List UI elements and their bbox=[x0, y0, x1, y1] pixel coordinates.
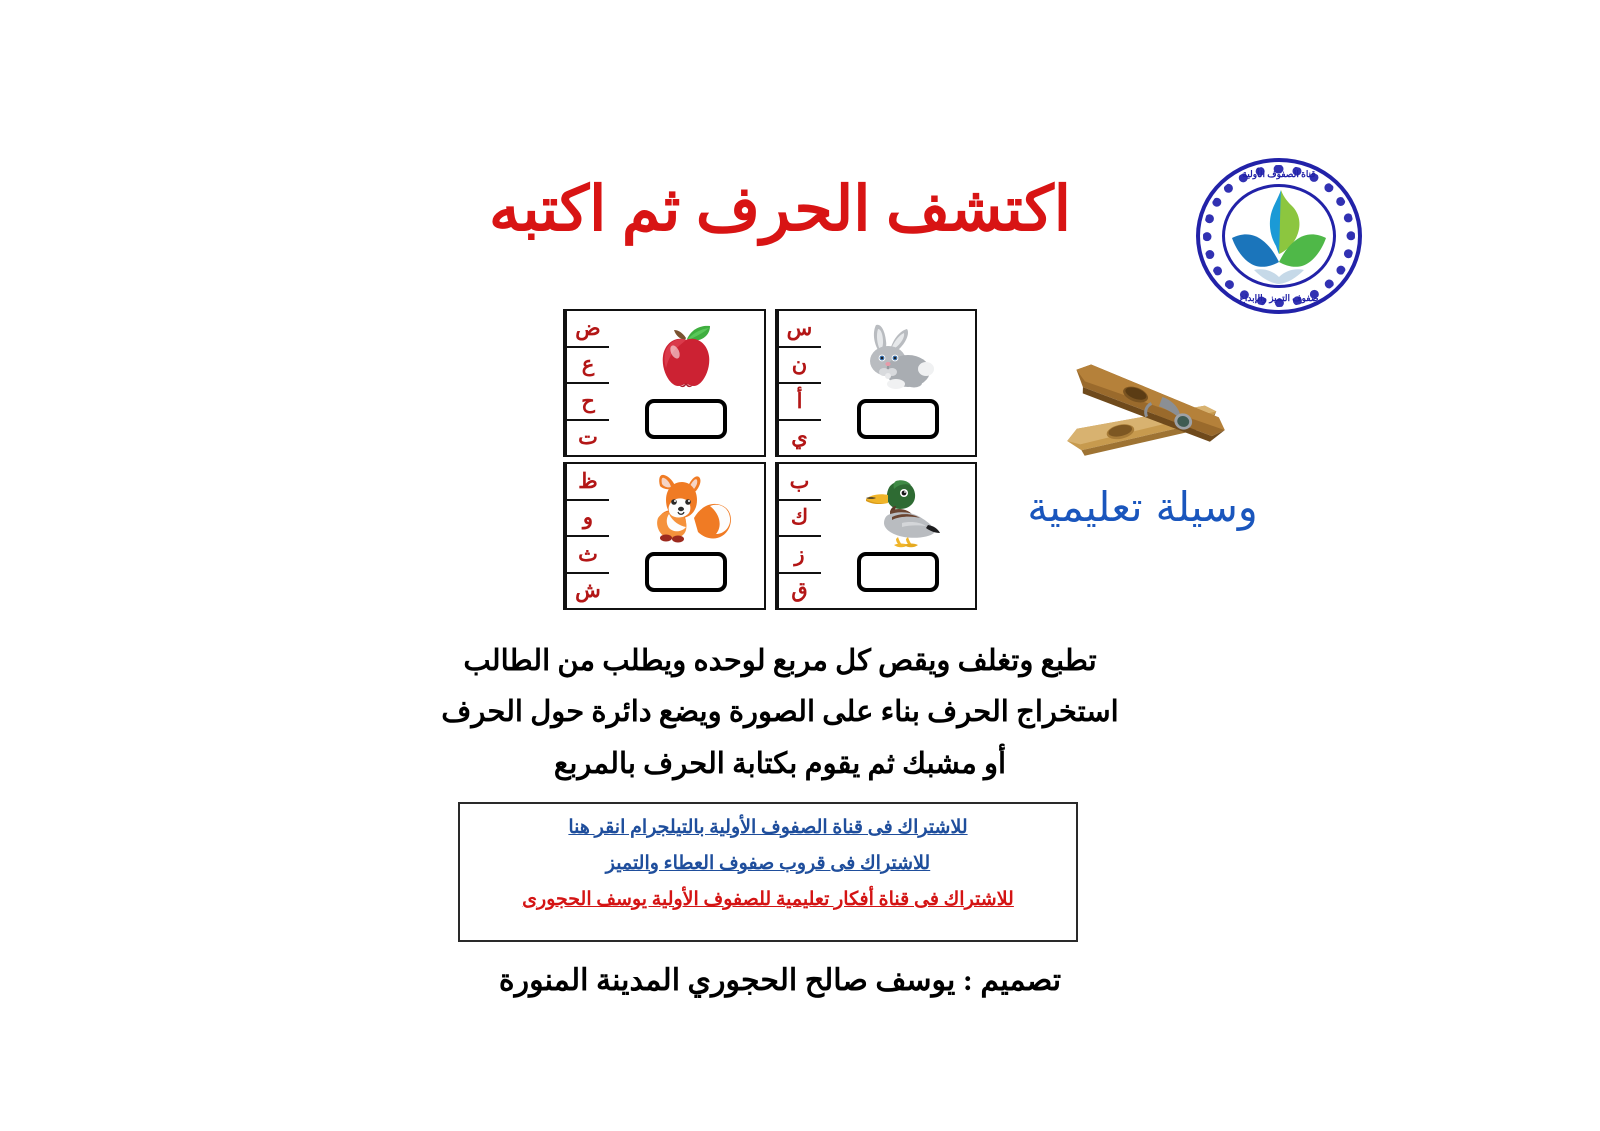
ideas-channel-link[interactable]: للاشتراك فى قناة أفكار تعليمية للصفوف ال… bbox=[460, 888, 1076, 911]
instruction-line: تطبع وتغلف ويقص كل مربع لوحده ويطلب من ا… bbox=[330, 636, 1230, 687]
letter-options-column: ظ و ث ش bbox=[565, 464, 609, 608]
page-title: اكتشف الحرف ثم اكتبه bbox=[380, 178, 1180, 243]
letter-options-column: ض ع ح ت bbox=[565, 311, 609, 455]
letter-option[interactable]: ت bbox=[567, 421, 609, 456]
telegram-channel-link[interactable]: للاشتراك فى قناة الصفوف الأولية بالتيلجر… bbox=[460, 816, 1076, 839]
letter-option[interactable]: س bbox=[779, 311, 821, 348]
letter-cards-grid: ض ع ح ت س ن أ bbox=[563, 309, 977, 610]
card-picture-area bbox=[821, 464, 976, 608]
letter-option[interactable]: ظ bbox=[567, 464, 609, 501]
letter-card[interactable]: س ن أ ي bbox=[775, 309, 978, 457]
seal-bottom-text: صفوف التميز والإبداع bbox=[1196, 293, 1362, 304]
groups-link[interactable]: للاشتراك فى قروب صفوف العطاء والتميز bbox=[460, 852, 1076, 875]
letter-card[interactable]: ب ك ز ق bbox=[775, 462, 978, 610]
card-picture-area bbox=[609, 311, 764, 455]
letter-options-column: س ن أ ي bbox=[777, 311, 821, 455]
answer-box[interactable] bbox=[857, 399, 939, 439]
letter-option[interactable]: ض bbox=[567, 311, 609, 348]
letter-option[interactable]: و bbox=[567, 501, 609, 538]
letter-option[interactable]: ش bbox=[567, 574, 609, 609]
letter-option[interactable]: ن bbox=[779, 348, 821, 385]
letter-option[interactable]: أ bbox=[779, 384, 821, 421]
rabbit-image bbox=[821, 316, 976, 396]
instructions-block: تطبع وتغلف ويقص كل مربع لوحده ويطلب من ا… bbox=[330, 636, 1230, 790]
designer-credit: تصميم : يوسف صالح الحجوري المدينة المنور… bbox=[330, 963, 1230, 998]
apple-image bbox=[609, 316, 764, 396]
letter-option[interactable]: ث bbox=[567, 537, 609, 574]
duck-image bbox=[821, 469, 976, 549]
instruction-line: استخراج الحرف بناء على الصورة ويضع دائرة… bbox=[330, 687, 1230, 738]
letter-option[interactable]: ق bbox=[779, 574, 821, 609]
letter-options-column: ب ك ز ق bbox=[777, 464, 821, 608]
clothespin-image bbox=[1047, 352, 1247, 462]
fox-image bbox=[609, 469, 764, 549]
letter-option[interactable]: ي bbox=[779, 421, 821, 456]
letter-card[interactable]: ض ع ح ت bbox=[563, 309, 766, 457]
teaching-aid-caption: وسيلة تعليمية bbox=[1005, 483, 1280, 531]
seal-top-text: قناة الصفوف الأولية bbox=[1196, 169, 1362, 180]
answer-box[interactable] bbox=[645, 552, 727, 592]
letter-card[interactable]: ظ و ث ش bbox=[563, 462, 766, 610]
answer-box[interactable] bbox=[645, 399, 727, 439]
letter-option[interactable]: ع bbox=[567, 348, 609, 385]
card-picture-area bbox=[821, 311, 976, 455]
letter-option[interactable]: ح bbox=[567, 384, 609, 421]
answer-box[interactable] bbox=[857, 552, 939, 592]
letter-option[interactable]: ك bbox=[779, 501, 821, 538]
school-seal-logo: قناة الصفوف الأولية صفوف التميز والإبداع bbox=[1196, 158, 1362, 314]
leaf-emblem-icon bbox=[1226, 184, 1332, 288]
card-picture-area bbox=[609, 464, 764, 608]
letter-option[interactable]: ز bbox=[779, 537, 821, 574]
subscription-links-box: للاشتراك فى قناة الصفوف الأولية بالتيلجر… bbox=[458, 802, 1078, 942]
letter-option[interactable]: ب bbox=[779, 464, 821, 501]
instruction-line: أو مشبك ثم يقوم بكتابة الحرف بالمربع bbox=[330, 739, 1230, 790]
